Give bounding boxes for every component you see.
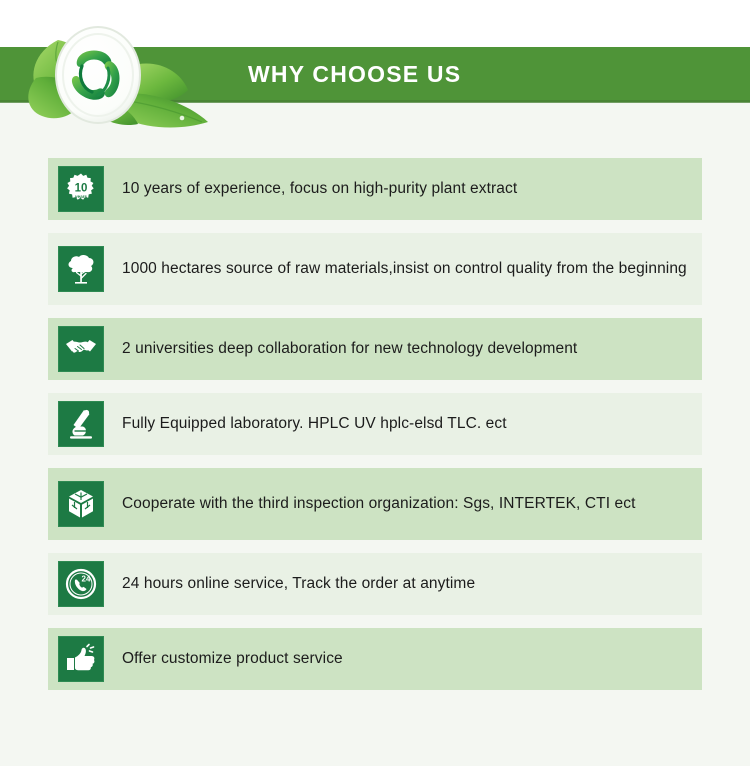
company-leaf-emblem-logo	[12, 18, 227, 133]
svg-text:10: 10	[75, 183, 88, 195]
list-item[interactable]: 1000 hectares source of raw materials,in…	[48, 233, 702, 305]
list-item-label: 24 hours online service, Track the order…	[122, 573, 475, 595]
twentyfour-hour-phone-icon: 24	[58, 561, 104, 607]
list-item[interactable]: Cooperate with the third inspection orga…	[48, 468, 702, 540]
feature-list: 10 years 10 years of experience, focus o…	[48, 158, 702, 703]
page-title: WHY CHOOSE US	[248, 47, 461, 102]
list-item-label: Offer customize product service	[122, 648, 343, 670]
svg-text:24: 24	[82, 575, 91, 584]
list-item[interactable]: Offer customize product service	[48, 628, 702, 690]
ten-years-seal-icon: 10 years	[58, 166, 104, 212]
bottom-spacer	[0, 700, 750, 766]
list-item-label: 10 years of experience, focus on high-pu…	[122, 178, 517, 200]
list-item[interactable]: Fully Equipped laboratory. HPLC UV hplc-…	[48, 393, 702, 455]
list-item-label: 2 universities deep collaboration for ne…	[122, 338, 577, 360]
list-item-label: 1000 hectares source of raw materials,in…	[122, 258, 687, 280]
why-choose-us-page: WHY CHOOSE US 10 years 10 years of exper…	[0, 0, 750, 766]
list-item-label: Fully Equipped laboratory. HPLC UV hplc-…	[122, 413, 507, 435]
cube-box-icon	[58, 481, 104, 527]
svg-text:years: years	[75, 194, 87, 199]
list-item[interactable]: 2 universities deep collaboration for ne…	[48, 318, 702, 380]
tree-icon	[58, 246, 104, 292]
list-item[interactable]: 24 24 hours online service, Track the or…	[48, 553, 702, 615]
list-item[interactable]: 10 years 10 years of experience, focus o…	[48, 158, 702, 220]
thumbs-up-icon	[58, 636, 104, 682]
microscope-icon	[58, 401, 104, 447]
list-item-label: Cooperate with the third inspection orga…	[122, 493, 636, 515]
handshake-icon	[58, 326, 104, 372]
